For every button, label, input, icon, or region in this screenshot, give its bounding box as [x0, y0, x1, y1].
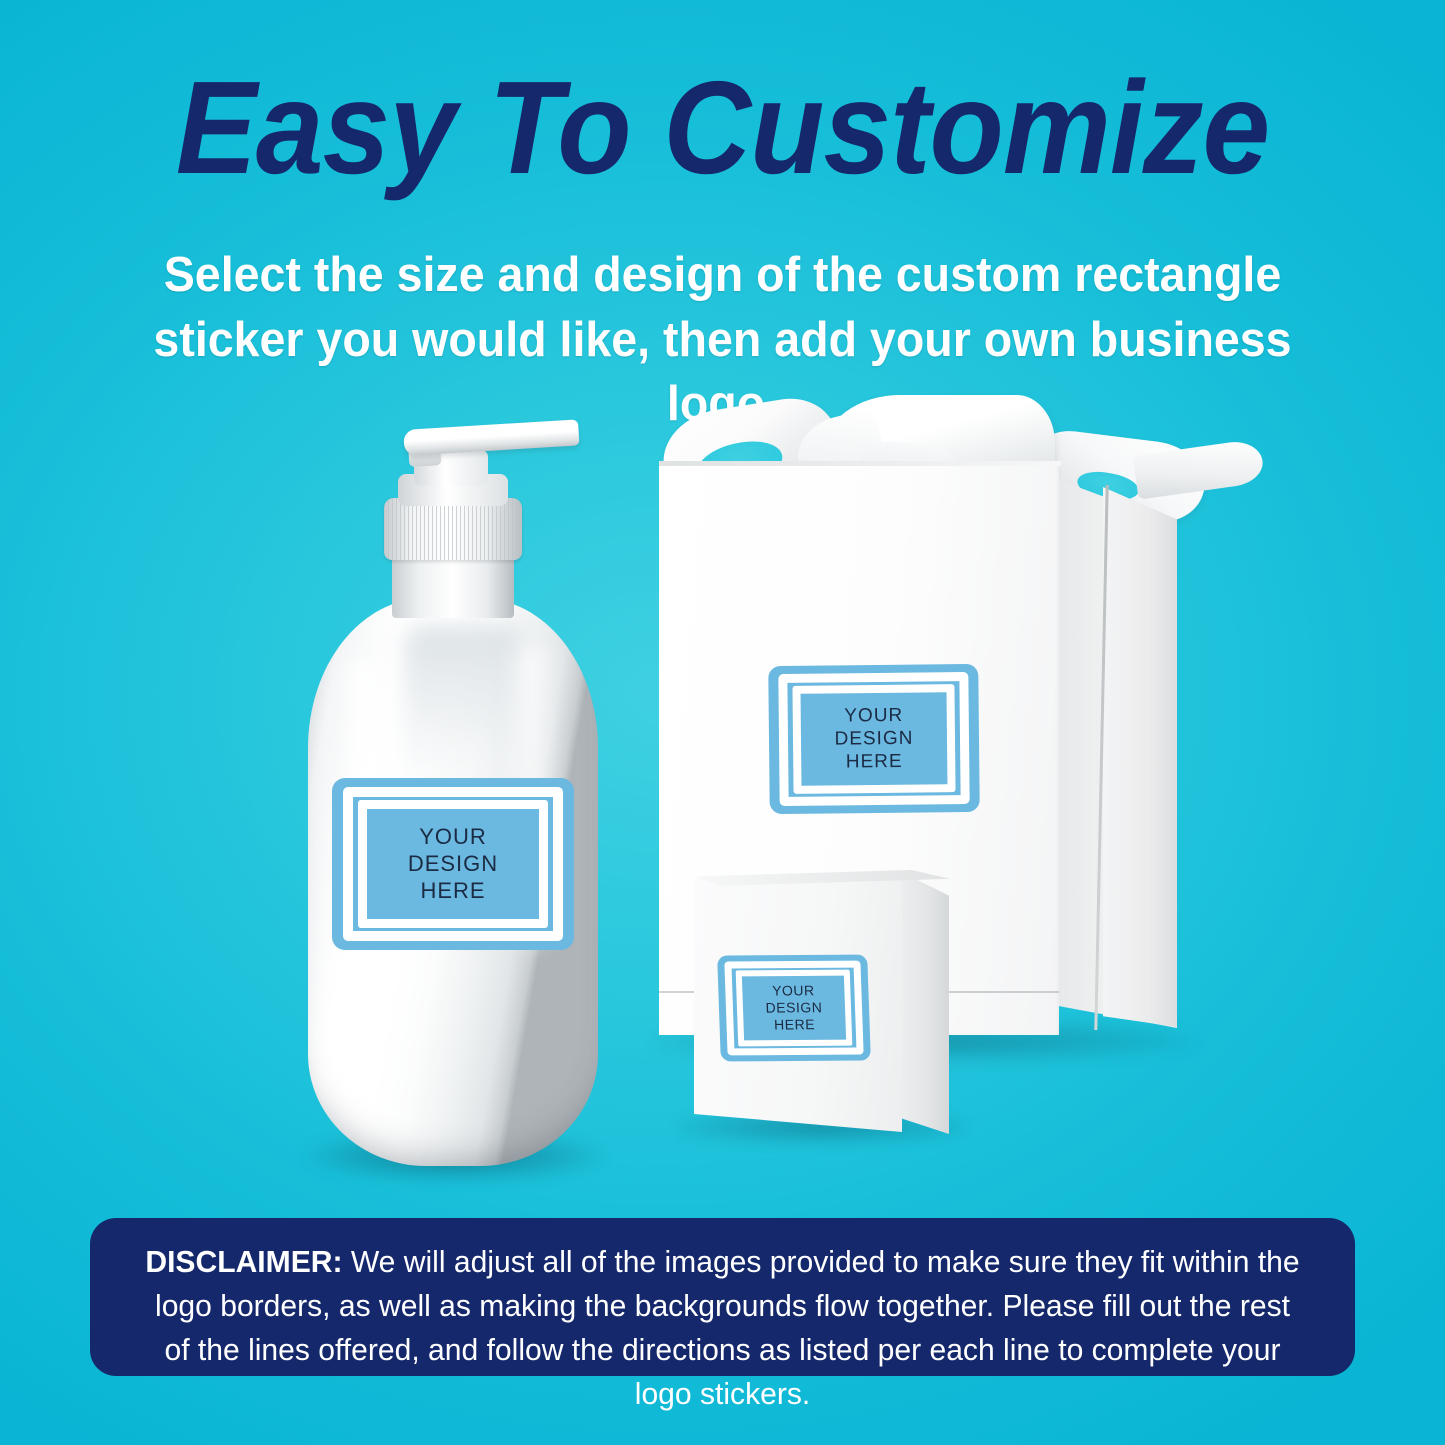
sticker-line-3: HERE [769, 749, 979, 774]
sticker-line-3: HERE [719, 1016, 870, 1034]
sticker-on-gift-box: YOUR DESIGN HERE [768, 664, 980, 814]
product-small-box: YOUR DESIGN HERE [672, 862, 972, 1162]
sticker-text: YOUR DESIGN HERE [332, 824, 574, 904]
giftbox-side-panel-back [1103, 487, 1177, 1027]
smallbox-side-panel [901, 872, 949, 1134]
disclaimer-text: DISCLAIMER: We will adjust all of the im… [142, 1240, 1303, 1416]
page-title: Easy To Customize [58, 62, 1387, 194]
sticker-line-1: YOUR [769, 703, 979, 728]
promo-banner: Easy To Customize Select the size and de… [0, 0, 1445, 1445]
sticker-line-1: YOUR [718, 982, 869, 1000]
sticker-line-1: YOUR [332, 824, 574, 851]
sticker-on-small-box: YOUR DESIGN HERE [717, 955, 871, 1062]
sticker-line-2: DESIGN [332, 851, 574, 878]
sticker-line-2: DESIGN [769, 726, 979, 751]
product-pump-bottle: YOUR DESIGN HERE [286, 430, 626, 1220]
bottle-ribbed-collar [384, 498, 522, 560]
sticker-text: YOUR DESIGN HERE [769, 703, 980, 775]
disclaimer-banner: DISCLAIMER: We will adjust all of the im… [90, 1218, 1355, 1376]
sticker-line-2: DESIGN [719, 999, 870, 1017]
giftbox-top-edge [659, 461, 1061, 466]
sticker-on-bottle: YOUR DESIGN HERE [332, 778, 574, 950]
disclaimer-prefix: DISCLAIMER: [145, 1244, 342, 1279]
sticker-text: YOUR DESIGN HERE [718, 982, 870, 1034]
sticker-line-3: HERE [332, 877, 574, 904]
